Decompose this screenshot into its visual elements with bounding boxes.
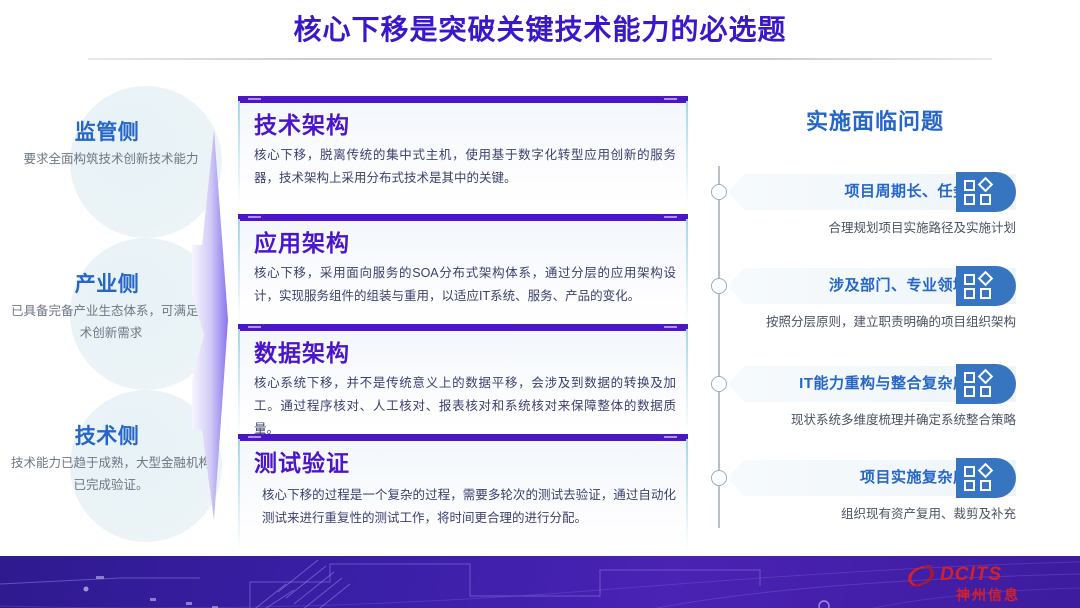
- card-right-edge: [686, 329, 688, 434]
- grid-diamond-shape-icon: [978, 271, 994, 287]
- issues-panel-title: 实施面临问题: [700, 104, 1050, 136]
- card-description: 核心下移，脱离传统的集中式主机，使用基于数字化转型应用创新的服务器，技术架构上采…: [254, 144, 676, 190]
- issue-subtext: 现状系统多维度梳理并确定系统整合策略: [791, 409, 1016, 428]
- grid-square-icon: [964, 466, 975, 477]
- footer-banner: DCITS 神州信息: [0, 556, 1080, 608]
- issue-item-implementation[interactable]: 项目实施复杂度高 组织现有资产复用、裁剪及补充: [700, 448, 1050, 540]
- grid-square-icon: [964, 194, 975, 205]
- grid-square-icon: [964, 480, 975, 491]
- grid-diamond-icon: [956, 266, 1016, 306]
- card-title: 应用架构: [254, 224, 350, 258]
- grid-square-icon: [964, 372, 975, 383]
- card-title: 技术架构: [254, 106, 350, 140]
- sidebar-item-title: 监管侧: [0, 116, 214, 146]
- timeline-dot-icon: [711, 376, 727, 392]
- issue-item-it-capability[interactable]: IT能力重构与整合复杂度高 现状系统多维度梳理并确定系统整合策略: [700, 354, 1050, 446]
- grid-square-icon: [964, 386, 975, 397]
- card-top-border: [238, 324, 688, 331]
- card-corner-tab-left-icon: [244, 214, 266, 221]
- grid-square-icon: [980, 288, 991, 299]
- card-corner-tab-left-icon: [244, 434, 266, 441]
- card-title: 测试验证: [254, 444, 350, 478]
- card-description: 核心下移，采用面向服务的SOA分布式架构体系，通过分层的应用架构设计，实现服务组…: [254, 262, 676, 308]
- card-top-border: [238, 214, 688, 221]
- flow-arrow-icon: [184, 130, 230, 520]
- card-top-border: [238, 434, 688, 441]
- issue-subtext: 按照分层原则，建立职责明确的项目组织架构: [766, 311, 1016, 330]
- sidebar-item-title: 技术侧: [0, 420, 214, 450]
- title-divider: [88, 58, 992, 60]
- grid-square-icon: [964, 288, 975, 299]
- grid-square-icon: [980, 194, 991, 205]
- issue-subtext: 组织现有资产复用、裁剪及补充: [841, 503, 1016, 522]
- grid-diamond-icon: [956, 172, 1016, 212]
- card-title: 数据架构: [254, 334, 350, 368]
- card-right-edge: [686, 101, 688, 206]
- card-application-architecture[interactable]: 应用架构 核心下移，采用面向服务的SOA分布式架构体系，通过分层的应用架构设计，…: [238, 214, 688, 324]
- card-corner-tab-right-icon: [660, 214, 682, 221]
- issue-subtext: 合理规划项目实施路径及实施计划: [828, 217, 1016, 236]
- issues-panel: 实施面临问题 项目周期长、任务重 合理规划项目实施路径及实施计划 涉及部门、专业…: [700, 104, 1050, 554]
- swirl-logo-icon: [904, 562, 938, 590]
- card-left-edge: [238, 219, 240, 324]
- company-logo: DCITS 神州信息: [904, 562, 1064, 604]
- timeline-dot-icon: [711, 470, 727, 486]
- card-corner-tab-right-icon: [660, 324, 682, 331]
- card-top-border: [238, 96, 688, 103]
- grid-diamond-shape-icon: [978, 177, 994, 193]
- grid-square-icon: [964, 180, 975, 191]
- sidebar-item-title: 产业侧: [0, 268, 214, 298]
- grid-square-icon: [980, 480, 991, 491]
- grid-square-icon: [964, 274, 975, 285]
- card-test-verification[interactable]: 测试验证 核心下移的过程是一个复杂的过程，需要多轮次的测试去验证，通过自动化测试…: [238, 434, 688, 552]
- card-corner-tab-right-icon: [660, 434, 682, 441]
- page-title: 核心下移是突破关键技术能力的必选题: [0, 12, 1080, 48]
- timeline-dot-icon: [711, 278, 727, 294]
- card-corner-tab-right-icon: [660, 96, 682, 103]
- card-left-edge: [238, 439, 240, 552]
- card-description: 核心下移的过程是一个复杂的过程，需要多轮次的测试去验证，通过自动化测试来进行重复…: [262, 484, 676, 530]
- logo-chinese-name: 神州信息: [956, 585, 1020, 605]
- card-left-edge: [238, 329, 240, 434]
- grid-diamond-icon: [956, 364, 1016, 404]
- card-left-edge: [238, 101, 240, 206]
- grid-diamond-shape-icon: [978, 369, 994, 385]
- card-corner-tab-left-icon: [244, 96, 266, 103]
- card-right-edge: [686, 439, 688, 552]
- card-description: 核心系统下移，并不是传统意义上的数据平移，会涉及到数据的转换及加工。通过程序核对…: [254, 372, 676, 441]
- issue-item-departments[interactable]: 涉及部门、专业领域多 按照分层原则，建立职责明确的项目组织架构: [700, 256, 1050, 348]
- card-technical-architecture[interactable]: 技术架构 核心下移，脱离传统的集中式主机，使用基于数字化转型应用创新的服务器，技…: [238, 96, 688, 206]
- card-data-architecture[interactable]: 数据架构 核心系统下移，并不是传统意义上的数据平移，会涉及到数据的转换及加工。通…: [238, 324, 688, 434]
- grid-diamond-shape-icon: [978, 463, 994, 479]
- architecture-cards: 技术架构 核心下移，脱离传统的集中式主机，使用基于数字化转型应用创新的服务器，技…: [238, 96, 690, 552]
- grid-square-icon: [980, 386, 991, 397]
- card-right-edge: [686, 219, 688, 324]
- page-header: 核心下移是突破关键技术能力的必选题: [0, 0, 1080, 62]
- logo-name: DCITS: [940, 564, 1002, 586]
- issue-item-project-cycle[interactable]: 项目周期长、任务重 合理规划项目实施路径及实施计划: [700, 162, 1050, 254]
- timeline-dot-icon: [711, 184, 727, 200]
- card-corner-tab-left-icon: [244, 324, 266, 331]
- grid-diamond-icon: [956, 458, 1016, 498]
